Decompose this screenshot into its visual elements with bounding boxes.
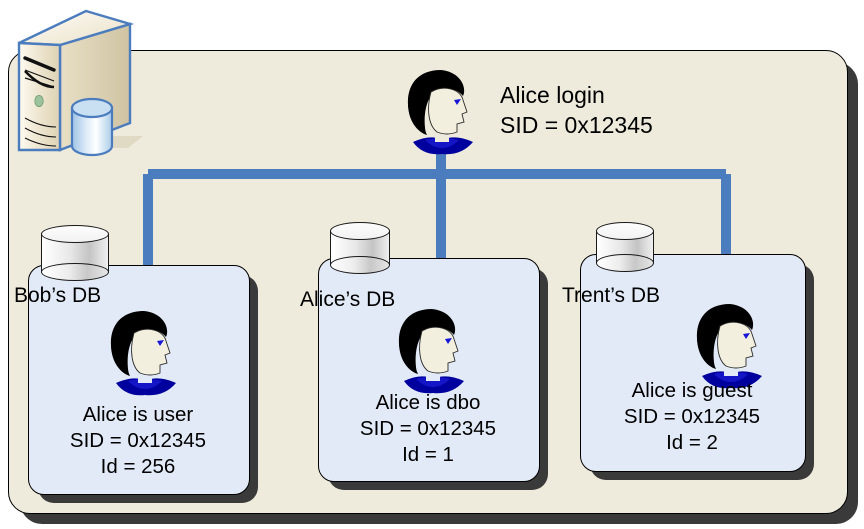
login-line2: SID = 0x12345 <box>500 110 653 140</box>
alices-db-text: Alice is dbo SID = 0x12345 Id = 1 <box>318 390 538 468</box>
alices-db-line3: Id = 1 <box>318 442 538 468</box>
server-tower-icon <box>8 8 148 168</box>
trents-db-line3: Id = 2 <box>580 430 804 456</box>
trents-db-cylinder-icon <box>596 222 654 272</box>
bobs-db-text: Alice is user SID = 0x12345 Id = 256 <box>28 402 248 480</box>
trents-db-label: Trent’s DB <box>562 284 660 308</box>
bobs-db-cylinder-icon <box>41 225 109 281</box>
bobs-db-line1: Alice is user <box>28 402 248 428</box>
bobs-db-line2: SID = 0x12345 <box>28 428 248 454</box>
bobs-db-person-icon <box>104 307 186 399</box>
alices-db-person-icon <box>392 305 474 397</box>
alices-db-label: Alice’s DB <box>300 288 395 312</box>
diagram-canvas: Alice login SID = 0x12345 Bob’s DB Alice… <box>0 0 864 529</box>
trents-db-text: Alice is guest SID = 0x12345 Id = 2 <box>580 378 804 456</box>
login-line1: Alice login <box>500 80 653 110</box>
alices-db-line1: Alice is dbo <box>318 390 538 416</box>
bobs-db-line3: Id = 256 <box>28 454 248 480</box>
alices-db-cylinder-icon <box>330 222 390 274</box>
login-caption: Alice login SID = 0x12345 <box>500 80 653 140</box>
trents-db-line2: SID = 0x12345 <box>580 404 804 430</box>
bobs-db-label: Bob’s DB <box>14 284 101 308</box>
login-person-icon <box>401 66 483 158</box>
alices-db-line2: SID = 0x12345 <box>318 416 538 442</box>
trents-db-line1: Alice is guest <box>580 378 804 404</box>
